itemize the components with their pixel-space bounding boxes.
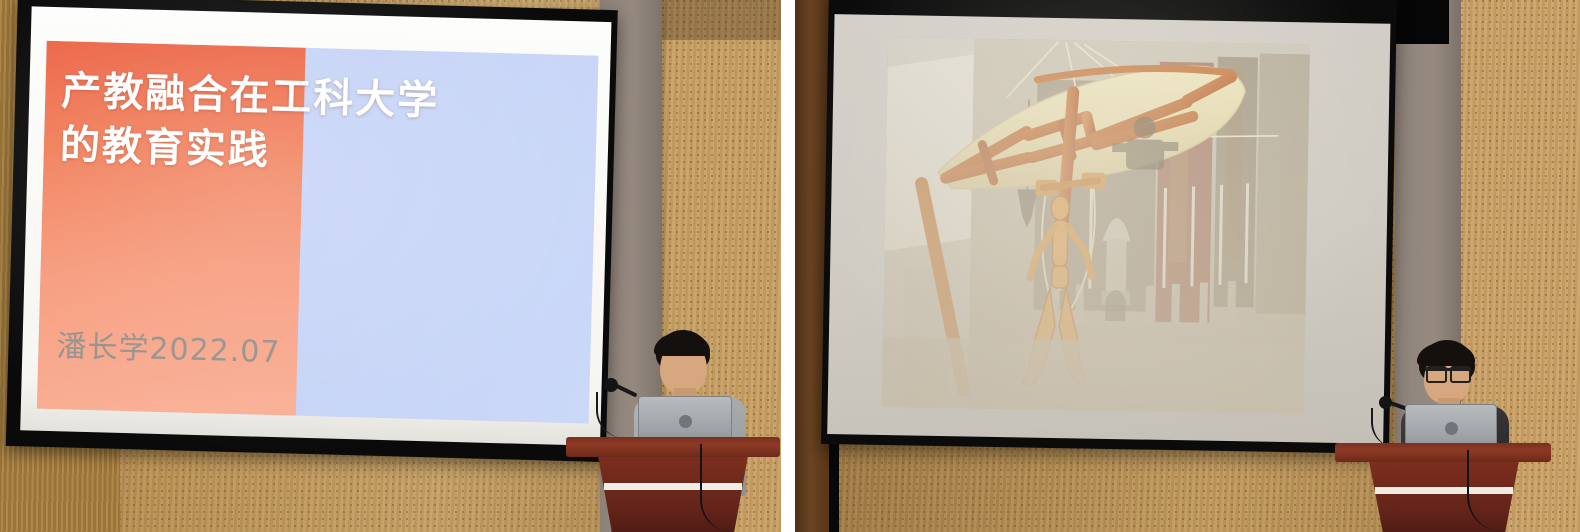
podium-top <box>1335 443 1551 462</box>
wall-shadow-top <box>662 0 781 40</box>
projection-screen-surface <box>827 14 1390 444</box>
laptop-logo <box>679 415 692 428</box>
podium-top <box>566 437 780 457</box>
microphone-head <box>604 378 618 392</box>
projection-screen-frame: 产教融合在工科大学 的教育实践 潘长学2022.07 <box>6 0 618 462</box>
lecture-hall-right <box>795 0 1580 532</box>
podium-left <box>566 437 780 532</box>
projection-haze <box>882 37 1310 414</box>
slide-title: 产教融合在工科大学 的教育实践 <box>59 65 592 186</box>
projected-photo-slide <box>882 37 1310 414</box>
right-photo <box>795 0 1580 532</box>
photo-composite: 产教融合在工科大学 的教育实践 潘长学2022.07 <box>0 0 1580 532</box>
laptop-logo <box>1445 422 1458 435</box>
slide-author-line: 潘长学2022.07 <box>56 321 281 371</box>
glasses-lens-right <box>1450 366 1471 383</box>
glasses-lens-left <box>1426 366 1447 383</box>
hair-top <box>654 332 710 356</box>
left-photo: 产教融合在工科大学 的教育实践 潘长学2022.07 <box>0 0 781 532</box>
panel-divider <box>781 0 795 532</box>
projection-screen-surface: 产教融合在工科大学 的教育实践 潘长学2022.07 <box>20 6 611 446</box>
podium-body <box>1359 462 1529 532</box>
podium-right <box>1335 443 1551 532</box>
title-slide: 产教融合在工科大学 的教育实践 潘长学2022.07 <box>37 41 599 424</box>
projection-screen-frame <box>821 0 1397 454</box>
hair-top <box>1417 342 1475 366</box>
podium-body <box>588 457 758 532</box>
lecture-hall-left: 产教融合在工科大学 的教育实践 潘长学2022.07 <box>0 0 781 532</box>
